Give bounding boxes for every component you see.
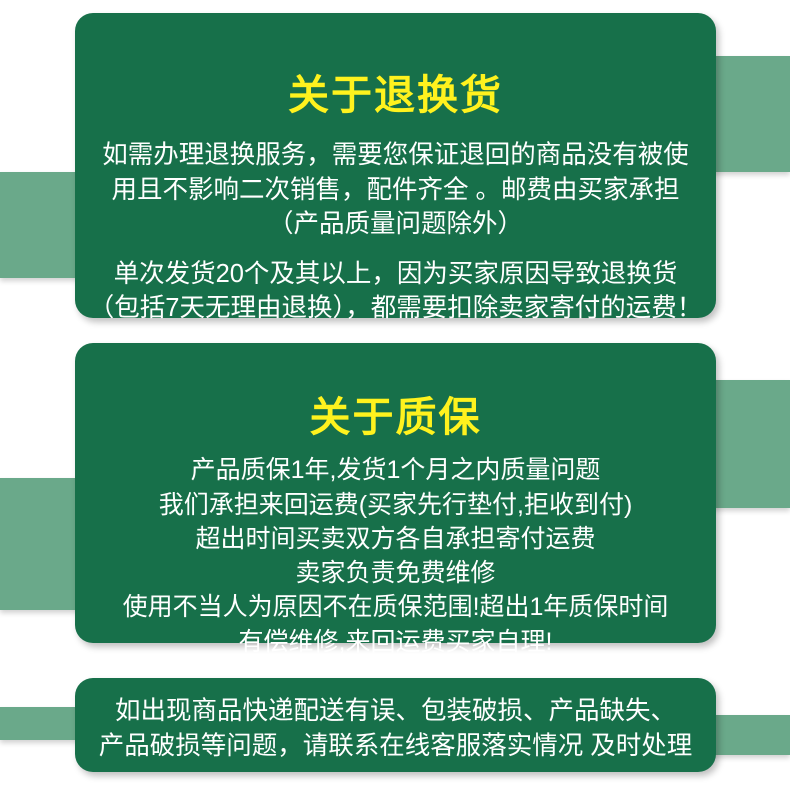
- text-line: 如出现商品快递配送有误、包装破损、产品缺失、: [75, 694, 716, 729]
- paragraph: 如需办理退换服务，需要您保证退回的商品没有被使 用且不影响二次销售，配件齐全 。…: [75, 138, 716, 241]
- card-delivery-issues: 如出现商品快递配送有误、包装破损、产品缺失、 产品破损等问题，请联系在线客服落实…: [75, 678, 716, 772]
- text-line: 产品破损等问题，请联系在线客服落实情况 及时处理: [75, 729, 716, 764]
- text-line: （产品质量问题除外）: [75, 207, 716, 241]
- text-line: 我们承担来回运费(买家先行垫付,拒收到付): [75, 488, 716, 522]
- text-line: 卖家负责免费维修: [75, 556, 716, 590]
- text-line: 超出时间买卖双方各自承担寄付运费: [75, 522, 716, 556]
- card-title-warranty: 关于质保: [310, 395, 482, 439]
- text-line: 如需办理退换服务，需要您保证退回的商品没有被使: [75, 138, 716, 172]
- text-line: 有偿维修,来回运费买家自理!: [75, 625, 716, 659]
- text-line: （包括7天无理由退换），都需要扣除卖家寄付的运费！: [75, 291, 716, 325]
- text-line: 用且不影响二次销售，配件齐全 。邮费由买家承担: [75, 173, 716, 207]
- text-line: 单次发货20个及其以上，因为买家原因导致退换货: [75, 257, 716, 291]
- card-body-delivery-issues: 如出现商品快递配送有误、包装破损、产品缺失、 产品破损等问题，请联系在线客服落实…: [75, 694, 716, 764]
- card-warranty: 关于质保 产品质保1年,发货1个月之内质量问题 我们承担来回运费(买家先行垫付,…: [75, 343, 716, 643]
- card-body-warranty: 产品质保1年,发货1个月之内质量问题 我们承担来回运费(买家先行垫付,拒收到付)…: [75, 453, 716, 693]
- card-title-returns-exchanges: 关于退换货: [288, 73, 503, 117]
- paragraph: 如出现商品快递配送有误、包装破损、产品缺失、 产品破损等问题，请联系在线客服落实…: [75, 694, 716, 764]
- text-line: 使用不当人为原因不在质保范围!超出1年质保时间: [75, 590, 716, 624]
- text-line: 产品质保1年,发货1个月之内质量问题: [75, 453, 716, 487]
- paragraph: 产品质保1年,发货1个月之内质量问题 我们承担来回运费(买家先行垫付,拒收到付)…: [75, 453, 716, 693]
- card-returns-exchanges: 关于退换货 如需办理退换服务，需要您保证退回的商品没有被使 用且不影响二次销售，…: [75, 13, 716, 318]
- promo-page: 关于退换货 如需办理退换服务，需要您保证退回的商品没有被使 用且不影响二次销售，…: [0, 0, 790, 795]
- card-body-returns-exchanges: 如需办理退换服务，需要您保证退回的商品没有被使 用且不影响二次销售，配件齐全 。…: [75, 138, 716, 360]
